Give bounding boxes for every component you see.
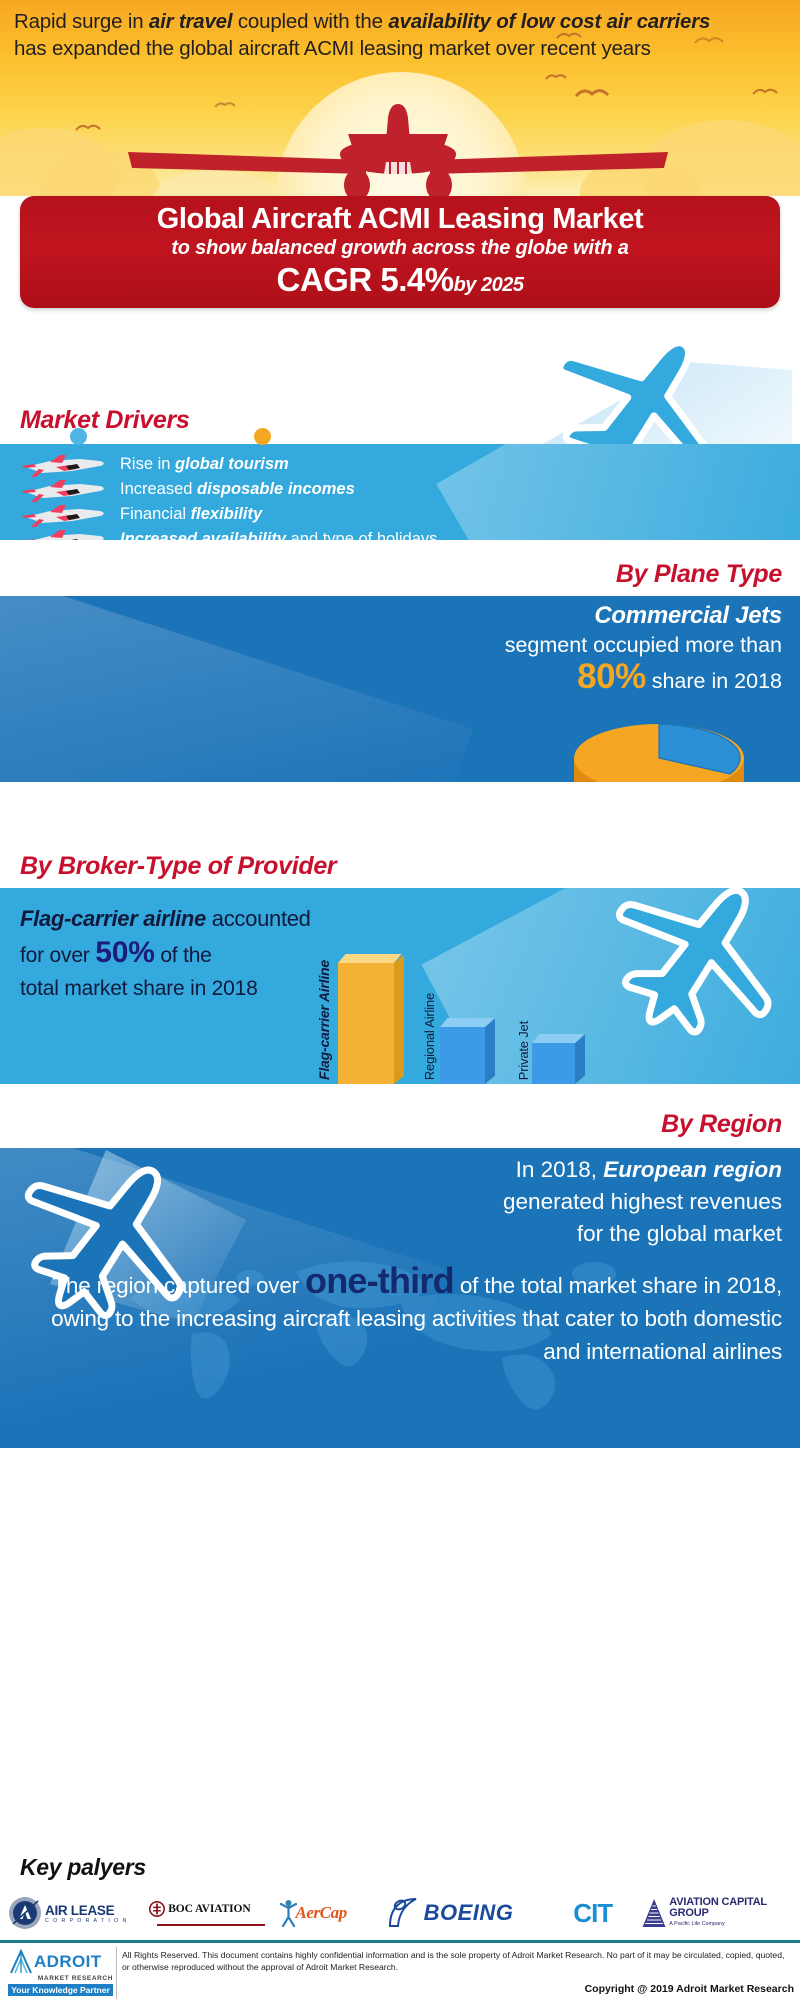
legend-label: Commercial Jets bbox=[280, 429, 384, 444]
broker-copy: Flag-carrier airline accounted for over … bbox=[20, 904, 311, 1003]
air-lease-mark-icon bbox=[8, 1896, 42, 1930]
pie-chart-plane-type bbox=[554, 702, 764, 782]
region-body-highlight: one-third bbox=[305, 1260, 454, 1301]
jet-outline-icon bbox=[580, 888, 800, 1056]
logo-text-sub: A Pacific Life Company bbox=[669, 1919, 792, 1930]
plane-type-copy: Commercial Jets segment occupied more th… bbox=[505, 602, 782, 698]
bar-front-face bbox=[338, 963, 394, 1084]
plane-type-line2: segment occupied more than bbox=[505, 630, 782, 660]
plane-type-line1: Commercial Jets bbox=[505, 602, 782, 630]
airliner-front-silhouette bbox=[118, 104, 678, 196]
logo-aercap: AerCap bbox=[280, 1899, 372, 1927]
market-drivers-panel: Rise in global tourism Increased disposa… bbox=[0, 444, 800, 540]
logo-text-main: CIT bbox=[573, 1898, 612, 1929]
logo-text-main: AerCap bbox=[295, 1903, 346, 1923]
bar-label-flag-carrier-airline: Flag-carrier Airline bbox=[316, 960, 332, 1080]
footer-divider bbox=[116, 1947, 117, 1999]
region-body-copy: The region captured over one-third of th… bbox=[30, 1264, 782, 1368]
bar-regional-airline bbox=[440, 1018, 486, 1084]
logo-underline bbox=[157, 1924, 265, 1926]
bar-flag-carrier-airline bbox=[338, 954, 394, 1084]
bird-icon bbox=[575, 86, 609, 100]
airplane-icon bbox=[20, 479, 108, 503]
logo-aviation-capital-group: AVIATION CAPITAL GROUP A Pacific Life Co… bbox=[640, 1895, 792, 1931]
logo-boc-aviation: BOC AVIATION bbox=[149, 1901, 267, 1926]
logo-boeing: BOEING bbox=[386, 1896, 546, 1930]
logo-cit: CIT bbox=[559, 1898, 627, 1929]
airplane-icon bbox=[20, 504, 108, 528]
footer-copyright: Copyright @ 2019 Adroit Market Research bbox=[585, 1983, 794, 1995]
adroit-mark-icon bbox=[8, 1949, 34, 1975]
boc-mark-icon bbox=[149, 1901, 165, 1917]
bar-front-face bbox=[532, 1043, 576, 1084]
logo-text-main: AIR LEASE bbox=[45, 1903, 128, 1918]
banner-title: Global Aircraft ACMI Leasing Market bbox=[20, 202, 780, 236]
key-players-heading: Key palyers bbox=[20, 1854, 146, 1881]
bar-label-regional-airline: Regional Airline bbox=[422, 993, 437, 1080]
light-ray-decoration bbox=[0, 596, 473, 782]
legend-item: Commercial Jets bbox=[254, 428, 384, 445]
acg-mark-icon bbox=[640, 1895, 666, 1931]
broker-percent: 50% bbox=[95, 936, 154, 969]
driver-label: Increased disposable incomes bbox=[120, 480, 355, 499]
bar-private-jet bbox=[532, 1034, 576, 1084]
broker-line2-post: of the bbox=[155, 944, 212, 967]
bar-side-face bbox=[575, 1035, 585, 1084]
region-body-pre: The region captured over bbox=[52, 1273, 305, 1298]
logo-text-sub: C O R P O R A T I O N bbox=[45, 1918, 128, 1924]
logo-text-main: BOC AVIATION bbox=[168, 1903, 250, 1915]
light-ray-decoration bbox=[436, 444, 800, 540]
section-heading-by-plane-type: By Plane Type bbox=[616, 560, 782, 589]
driver-label: Increased availability and type of holid… bbox=[120, 530, 437, 540]
bar-side-face bbox=[394, 955, 404, 1084]
hero-headline: Rapid surge in air travel coupled with t… bbox=[14, 8, 714, 62]
legend-swatch-private-jets bbox=[70, 428, 87, 445]
banner-subtitle: to show balanced growth across the globe… bbox=[20, 236, 780, 261]
adroit-brand-logo: ADROIT MARKET RESEARCH Your Knowledge Pa… bbox=[8, 1949, 113, 1996]
region-line2: generated highest revenues bbox=[503, 1186, 782, 1218]
legend-label: Private/Business Jets bbox=[96, 429, 220, 444]
key-players-section: Key palyers AIR LEASE C O R P O R A T I … bbox=[0, 1856, 800, 1942]
logo-text-main: BOEING bbox=[424, 1900, 514, 1926]
bird-icon bbox=[545, 72, 567, 82]
bird-icon bbox=[752, 86, 778, 97]
banner-cagr: CAGR 5.4%by 2025 bbox=[20, 261, 780, 304]
title-banner: Global Aircraft ACMI Leasing Market to s… bbox=[20, 196, 780, 308]
adroit-brand-tagline: Your Knowledge Partner bbox=[8, 1984, 113, 1996]
bar-side-face bbox=[485, 1019, 495, 1084]
driver-label: Financial flexibility bbox=[120, 505, 262, 524]
broker-line1-em: Flag-carrier airline bbox=[20, 906, 206, 931]
region-line1-em: European region bbox=[603, 1157, 782, 1182]
broker-line1-rest: accounted bbox=[206, 906, 311, 931]
legend-swatch-commercial-jets bbox=[254, 428, 271, 445]
bar-chart-broker-type: Flag-carrier Airline Regional Airline Pr… bbox=[300, 914, 600, 1084]
cagr-value: CAGR 5.4% bbox=[277, 261, 454, 298]
key-players-logo-row: AIR LEASE C O R P O R A T I O N BOC AVIA… bbox=[8, 1890, 792, 1936]
boeing-swoosh-icon bbox=[386, 1896, 422, 1930]
bird-icon bbox=[75, 122, 101, 133]
bar-front-face bbox=[440, 1027, 486, 1084]
bar-label-private-jet: Private Jet bbox=[516, 1021, 531, 1080]
logo-text-main: AVIATION CAPITAL GROUP bbox=[669, 1897, 792, 1919]
plane-type-panel: Commercial Jets segment occupied more th… bbox=[0, 596, 800, 782]
region-top-copy: In 2018, European region generated highe… bbox=[503, 1154, 782, 1250]
airplane-icon bbox=[20, 529, 108, 540]
airplane-icon bbox=[20, 454, 108, 478]
region-panel: In 2018, European region generated highe… bbox=[0, 1148, 800, 1448]
footer-legal-text: All Rights Reserved. This document conta… bbox=[122, 1949, 792, 1973]
plane-type-line3-tail: share in 2018 bbox=[652, 669, 782, 693]
footer-bar: ADROIT MARKET RESEARCH Your Knowledge Pa… bbox=[0, 1940, 800, 2000]
region-line3: for the global market bbox=[503, 1218, 782, 1250]
driver-label: Rise in global tourism bbox=[120, 455, 289, 474]
broker-line1: Flag-carrier airline accounted bbox=[20, 904, 311, 934]
legend-item: Private/Business Jets bbox=[70, 428, 220, 445]
adroit-brand-name: ADROIT bbox=[34, 1952, 102, 1972]
hero-banner: Rapid surge in air travel coupled with t… bbox=[0, 0, 800, 196]
logo-air-lease-corporation: AIR LEASE C O R P O R A T I O N bbox=[8, 1896, 136, 1930]
broker-line2-pre: for over bbox=[20, 944, 95, 967]
section-heading-by-broker-type: By Broker-Type of Provider bbox=[20, 852, 336, 881]
plane-type-percent: 80% bbox=[577, 657, 646, 696]
infographic-page: Rapid surge in air travel coupled with t… bbox=[0, 0, 800, 2000]
cagr-year: by 2025 bbox=[454, 274, 524, 296]
broker-line3: total market share in 2018 bbox=[20, 975, 311, 1003]
region-line1-pre: In 2018, bbox=[516, 1157, 604, 1182]
bar-top-face bbox=[338, 954, 402, 963]
section-heading-by-region: By Region bbox=[661, 1110, 782, 1139]
region-line1: In 2018, European region bbox=[503, 1154, 782, 1186]
pie-legend: Private/Business Jets Commercial Jets bbox=[70, 428, 384, 445]
broker-line2: for over 50% of the bbox=[20, 934, 311, 975]
plane-type-line3: 80% share in 2018 bbox=[505, 660, 782, 698]
adroit-brand-sub: MARKET RESEARCH bbox=[8, 1975, 113, 1982]
broker-type-panel: Flag-carrier airline accounted for over … bbox=[0, 888, 800, 1084]
